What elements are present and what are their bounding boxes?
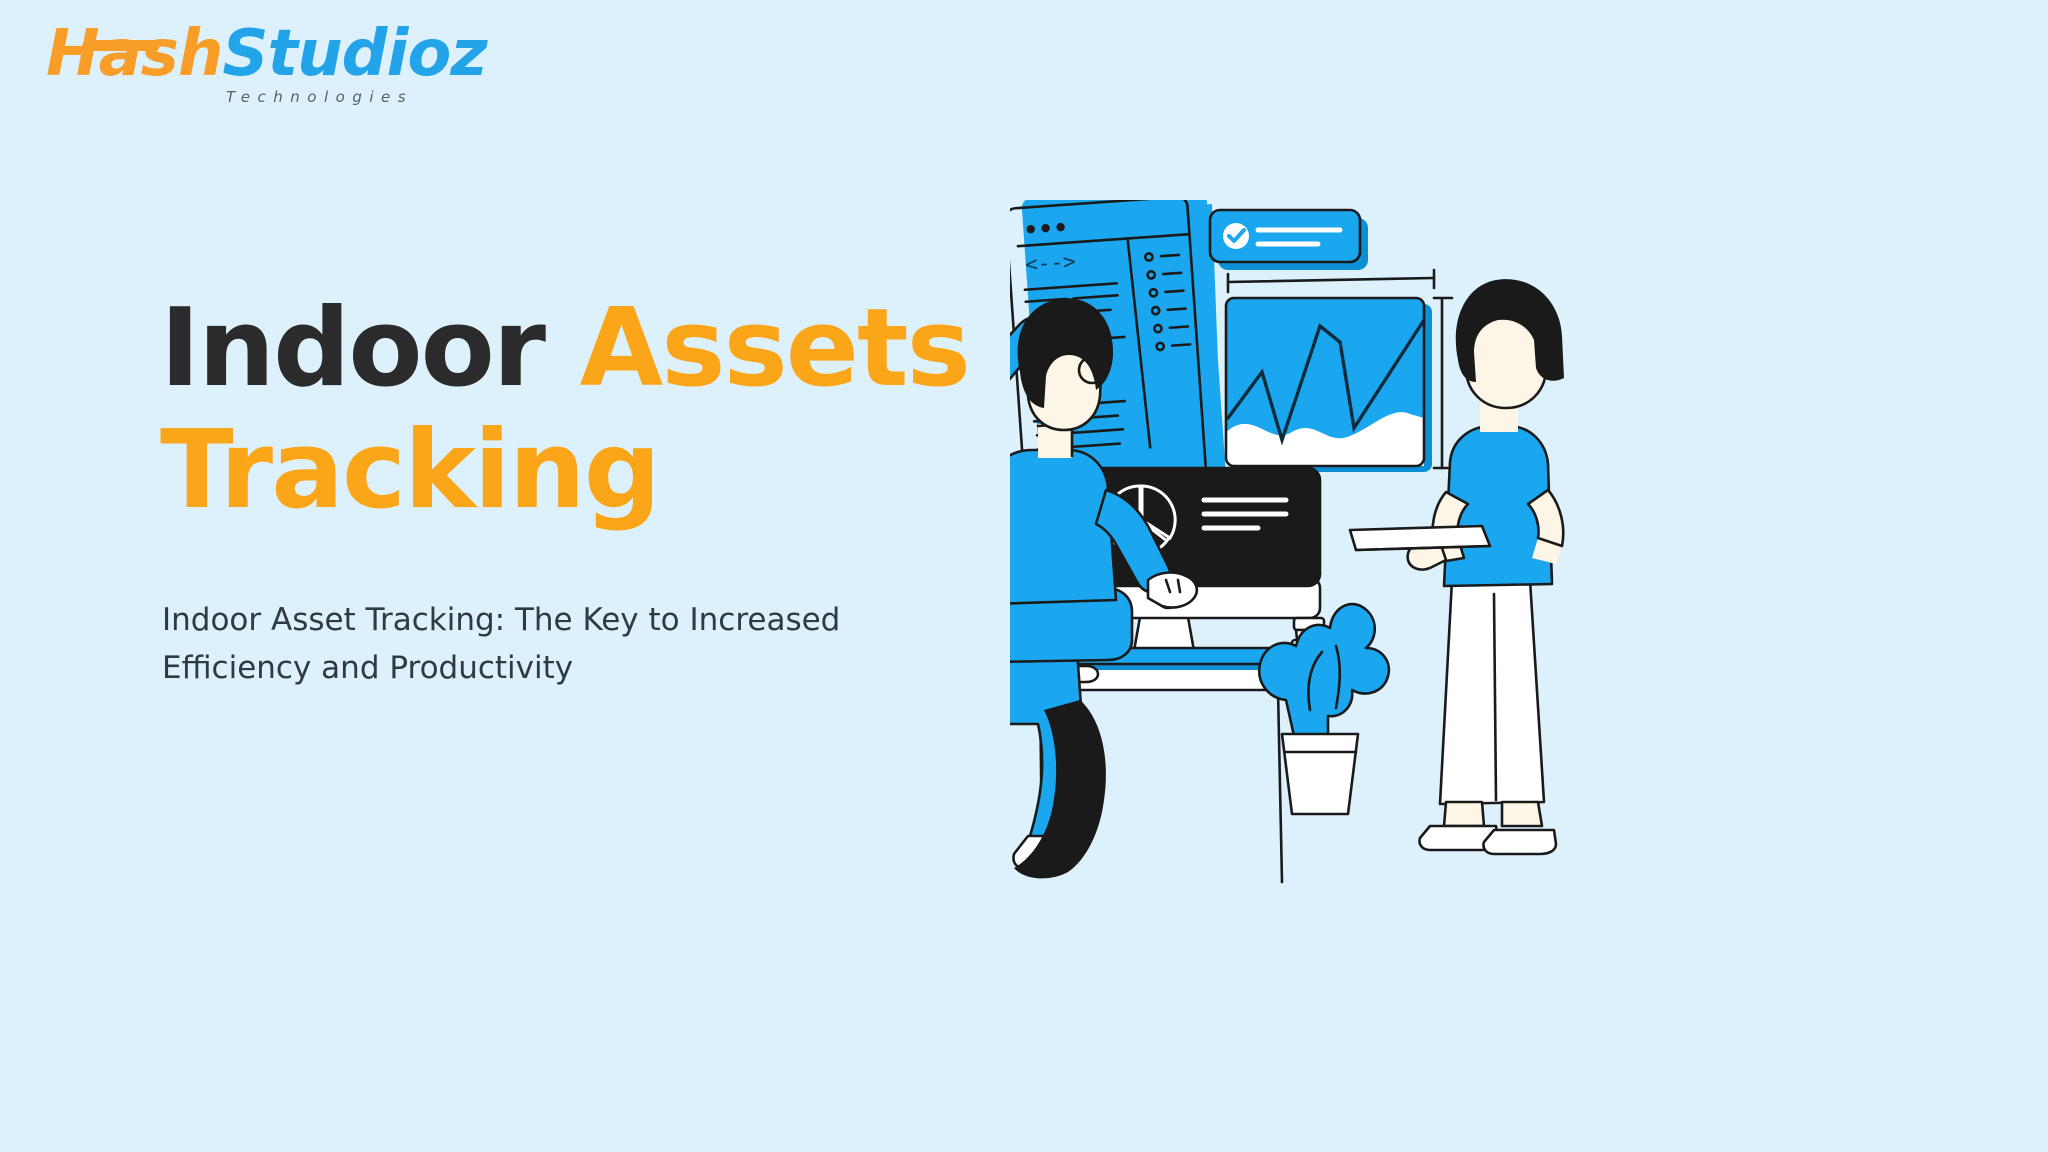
logo-hash-text: Hash — [46, 17, 222, 91]
code-open-tag-icon: <--> — [1024, 249, 1076, 276]
page-title: Indoor Assets Tracking — [160, 288, 1060, 532]
dimension-bracket — [1228, 270, 1434, 292]
logo-tagline: Technologies — [226, 88, 413, 106]
logo-studioz-text: Studioz — [222, 17, 486, 91]
banner-root: HashStudioz Technologies Indoor Assets T… — [0, 0, 2048, 1152]
brand-logo[interactable]: HashStudioz Technologies — [46, 22, 486, 132]
page-subtitle: Indoor Asset Tracking: The Key to Increa… — [162, 597, 862, 692]
headline-word-indoor: Indoor — [160, 286, 580, 411]
headline-word-tracking: Tracking — [160, 408, 659, 533]
line-chart-panel — [1226, 298, 1452, 472]
notification-card — [1210, 210, 1368, 270]
check-circle-icon — [1223, 223, 1249, 249]
logo-wordmark: HashStudioz — [46, 22, 487, 86]
office-team-analytics-illustration: .bl { fill:#1ba7ef; } .bld { fill:#0d8fd… — [1010, 200, 2030, 940]
logo-slash-icon — [80, 40, 162, 51]
tray — [1350, 526, 1490, 550]
headline-word-assets: Assets — [580, 286, 969, 411]
